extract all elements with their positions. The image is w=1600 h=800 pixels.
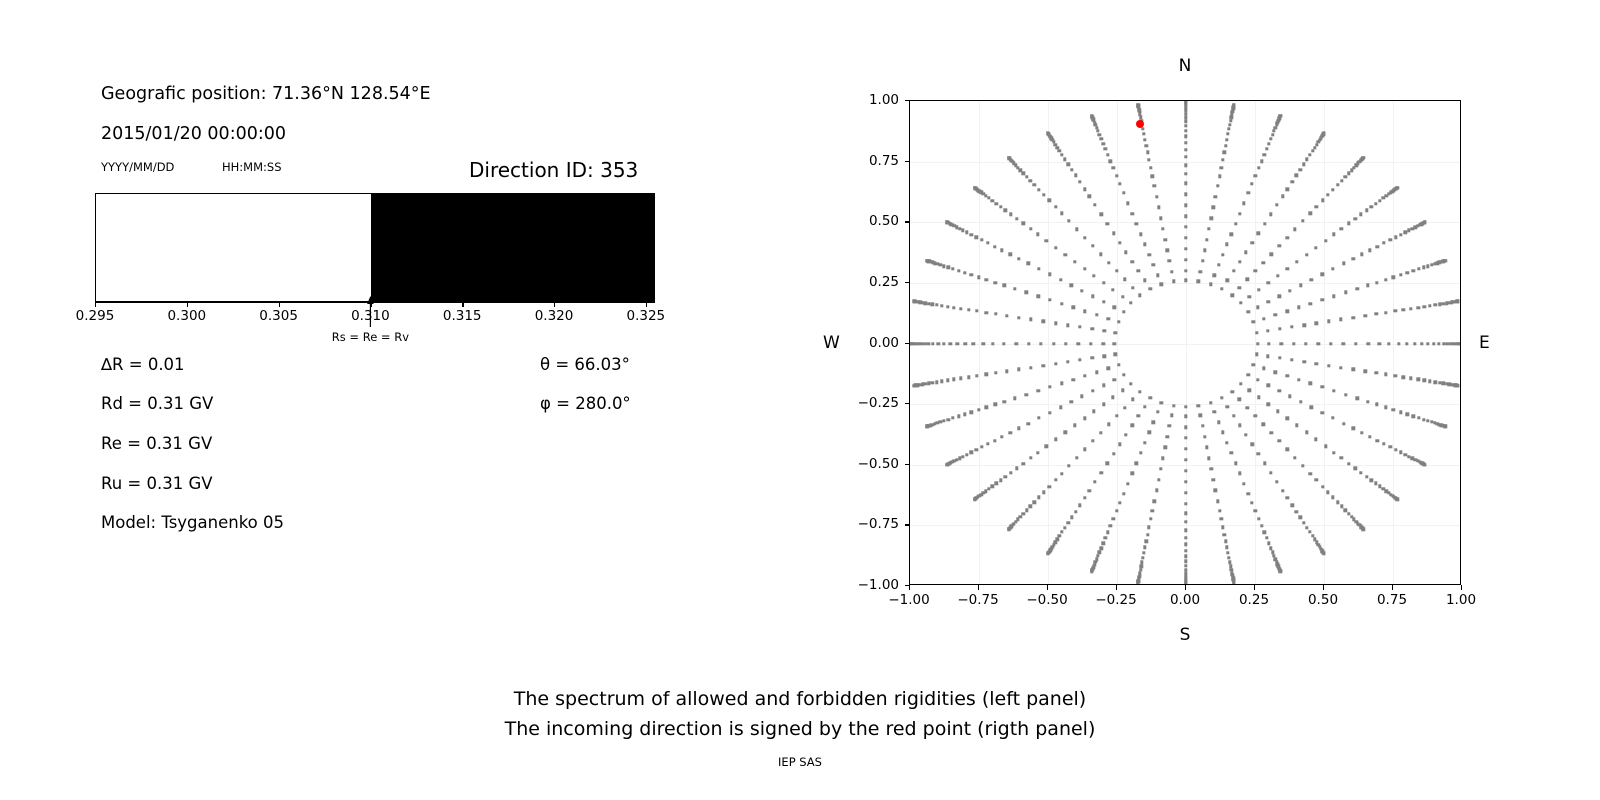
direction-point	[1060, 212, 1063, 215]
direction-point	[1036, 389, 1039, 392]
spectrum-tick	[646, 302, 647, 307]
polar-xtick-label: 0.25	[1239, 592, 1269, 608]
direction-point	[959, 307, 962, 310]
direction-point	[1422, 266, 1425, 269]
direction-point	[1271, 133, 1274, 136]
direction-point	[927, 302, 930, 305]
direction-point	[1375, 403, 1378, 406]
direction-point	[1184, 100, 1187, 103]
direction-point	[1205, 446, 1208, 449]
direction-point	[1113, 305, 1116, 308]
spectrum-tick	[187, 302, 188, 307]
direction-point	[1106, 367, 1109, 370]
direction-point	[1114, 331, 1117, 334]
direction-point	[1029, 505, 1032, 508]
direction-point	[1184, 135, 1187, 138]
polar-xtick	[1047, 585, 1048, 590]
direction-point	[994, 202, 997, 205]
direction-point	[1342, 422, 1345, 425]
direction-point	[1285, 309, 1288, 312]
polar-xtick	[1185, 585, 1186, 590]
polar-ytick	[905, 585, 910, 586]
direction-point	[1059, 278, 1062, 281]
direction-point	[1336, 500, 1339, 503]
direction-point	[1184, 564, 1187, 567]
direction-point	[1114, 353, 1117, 356]
direction-point	[1232, 269, 1235, 272]
direction-point	[1223, 533, 1226, 536]
direction-point	[1351, 368, 1354, 371]
direction-point	[1225, 546, 1228, 549]
direction-point	[1359, 471, 1362, 474]
direction-point	[1220, 396, 1223, 399]
direction-point	[1067, 464, 1070, 467]
direction-point	[1058, 149, 1061, 152]
direction-point	[1099, 213, 1102, 216]
direction-point	[1139, 451, 1142, 454]
direction-point	[1109, 524, 1112, 527]
direction-point	[1394, 235, 1397, 238]
direction-point	[1286, 267, 1289, 270]
direction-point	[1130, 260, 1133, 263]
direction-point	[1384, 406, 1387, 409]
direction-point	[1295, 424, 1298, 427]
direction-point	[1355, 397, 1358, 400]
direction-point	[927, 382, 930, 385]
direction-point	[1342, 262, 1345, 265]
direction-point	[1288, 395, 1291, 398]
direction-point	[1344, 393, 1347, 396]
direction-point	[1286, 187, 1289, 190]
direction-point	[1184, 436, 1187, 439]
direction-point	[1033, 183, 1036, 186]
direction-point	[1080, 395, 1083, 398]
direction-point	[1437, 342, 1440, 345]
direction-point	[1056, 146, 1059, 149]
direction-point	[1102, 542, 1105, 545]
direction-point	[970, 233, 973, 236]
direction-point	[1274, 370, 1277, 373]
direction-point	[1201, 424, 1204, 427]
direction-point	[1123, 406, 1126, 409]
polar-xtick-label: 0.75	[1377, 592, 1407, 608]
direction-point	[1002, 342, 1005, 345]
direction-point	[1100, 546, 1103, 549]
direction-point	[1394, 309, 1397, 312]
polar-ytick-label: 0.50	[841, 213, 899, 229]
direction-point	[1107, 261, 1110, 264]
polar-ytick-label: 0.25	[841, 274, 899, 290]
direction-point	[980, 238, 983, 241]
direction-point	[1321, 411, 1324, 414]
polar-direction-plot: −1.00−0.75−0.50−0.250.000.250.500.751.00…	[909, 100, 1461, 585]
direction-point	[1184, 258, 1187, 261]
direction-point	[1157, 206, 1160, 209]
direction-point	[1279, 570, 1282, 573]
direction-point	[1152, 420, 1155, 423]
direction-point	[1297, 306, 1300, 309]
direction-point	[1368, 435, 1371, 438]
direction-point	[1029, 456, 1032, 459]
direction-point	[1184, 279, 1187, 282]
direction-point	[1138, 390, 1141, 393]
direction-point	[1170, 413, 1173, 416]
direction-point	[1216, 184, 1219, 187]
direction-point	[1115, 269, 1118, 272]
direction-point	[931, 381, 934, 384]
direction-point	[1025, 393, 1028, 396]
direction-point	[1257, 232, 1260, 235]
direction-point	[1184, 155, 1187, 158]
direction-point	[1266, 354, 1269, 357]
direction-point	[1042, 490, 1045, 493]
direction-point	[1143, 138, 1146, 141]
direction-point	[940, 380, 943, 383]
direction-point	[1048, 485, 1051, 488]
direction-point	[1153, 499, 1156, 502]
direction-point	[1223, 151, 1226, 154]
polar-ytick-label: 1.00	[841, 92, 899, 108]
direction-point	[1163, 446, 1166, 449]
direction-point	[1340, 179, 1343, 182]
direction-point	[994, 482, 997, 485]
polar-ytick-label: −0.50	[841, 456, 899, 472]
direction-point	[1126, 482, 1129, 485]
direction-point	[1266, 329, 1269, 332]
polar-ytick-label: −0.25	[841, 395, 899, 411]
direction-point	[1226, 551, 1229, 554]
direction-point	[1232, 581, 1235, 584]
direction-point	[1339, 366, 1342, 369]
direction-point	[1184, 116, 1187, 119]
direction-point	[1184, 129, 1187, 132]
direction-point	[1078, 180, 1081, 183]
direction-point	[1009, 253, 1012, 256]
direction-point	[1027, 262, 1030, 265]
direction-point	[1434, 303, 1437, 306]
parameter-ru: Ru = 0.31 GV	[101, 474, 213, 493]
direction-point	[1106, 153, 1109, 156]
spectrum-tick-label: 0.310	[351, 308, 390, 324]
direction-point	[1066, 360, 1069, 363]
direction-point	[1412, 269, 1415, 272]
direction-point	[1067, 219, 1070, 222]
direction-point	[973, 498, 976, 501]
direction-point	[1184, 491, 1187, 494]
direction-point	[1037, 416, 1040, 419]
polar-ytick	[905, 221, 910, 222]
direction-point	[1184, 204, 1187, 207]
direction-point	[1122, 373, 1125, 376]
direction-point	[1107, 423, 1110, 426]
direction-point	[1111, 288, 1114, 291]
direction-point	[1262, 317, 1265, 320]
direction-point	[1370, 205, 1373, 208]
datetime-label: 2015/01/20 00:00:00	[101, 124, 286, 144]
direction-point	[1344, 291, 1347, 294]
direction-point	[1262, 367, 1265, 370]
direction-point	[1005, 370, 1008, 373]
direction-point	[1078, 504, 1081, 507]
direction-point	[1160, 283, 1163, 286]
direction-point	[1070, 400, 1073, 403]
direction-point	[942, 342, 945, 345]
time-format-hint: HH:MM:SS	[222, 160, 282, 174]
parameter-delta-r: ∆R = 0.01	[101, 355, 185, 374]
direction-point	[1295, 510, 1298, 513]
direction-point	[1060, 153, 1063, 156]
direction-point	[1399, 273, 1402, 276]
direction-point	[1285, 448, 1288, 451]
direction-point	[1364, 314, 1367, 317]
direction-point	[1420, 342, 1423, 345]
direction-point	[963, 271, 966, 274]
direction-point	[1201, 259, 1204, 262]
direction-point	[1387, 342, 1390, 345]
direction-point	[1118, 501, 1121, 504]
direction-point	[1113, 378, 1116, 381]
direction-point	[1230, 293, 1233, 296]
direction-point	[1052, 342, 1055, 345]
direction-point	[1331, 496, 1334, 499]
direction-point	[1059, 405, 1062, 408]
direction-point	[1143, 243, 1146, 246]
direction-point	[1291, 180, 1294, 183]
gridline-vertical	[1393, 101, 1394, 584]
direction-point	[1218, 175, 1221, 178]
direction-point	[1091, 389, 1094, 392]
direction-point	[1184, 529, 1187, 532]
direction-point	[1046, 132, 1049, 135]
direction-point	[1238, 424, 1241, 427]
direction-point	[1290, 358, 1293, 361]
direction-point	[1048, 298, 1051, 301]
direction-point	[1137, 414, 1140, 417]
direction-point	[1309, 382, 1312, 385]
direction-id-label: Direction ID: 353	[469, 158, 638, 182]
direction-point	[970, 410, 973, 413]
direction-point	[1432, 342, 1435, 345]
direction-point	[1399, 410, 1402, 413]
direction-point	[1221, 158, 1224, 161]
direction-point	[912, 384, 915, 387]
direction-point	[1063, 526, 1066, 529]
polar-ytick	[905, 464, 910, 465]
direction-point	[1060, 530, 1063, 533]
direction-point	[999, 205, 1002, 208]
direction-point	[986, 442, 989, 445]
direction-point	[1036, 233, 1039, 236]
direction-point	[1184, 193, 1187, 196]
direction-point	[1263, 222, 1266, 225]
direction-point	[1368, 248, 1371, 251]
direction-point	[1274, 313, 1277, 316]
direction-point	[1275, 480, 1278, 483]
direction-point	[1124, 250, 1127, 253]
direction-point	[1290, 325, 1293, 328]
direction-point	[1007, 528, 1010, 531]
direction-point	[1112, 232, 1115, 235]
gridline-horizontal	[910, 222, 1460, 223]
parameter-rd: Rd = 0.31 GV	[101, 394, 213, 413]
direction-point	[1242, 482, 1245, 485]
direction-point	[1232, 103, 1235, 106]
direction-point	[1250, 501, 1253, 504]
direction-point	[1159, 216, 1162, 219]
direction-point	[1230, 390, 1233, 393]
direction-point	[1122, 310, 1125, 313]
direction-point	[1417, 416, 1420, 419]
direction-point	[1060, 302, 1063, 305]
direction-point	[1143, 546, 1146, 549]
direction-point	[1285, 374, 1288, 377]
spectrum-tick-label: 0.320	[535, 308, 574, 324]
direction-point	[1315, 205, 1318, 208]
direction-point	[1247, 191, 1250, 194]
direction-point	[993, 245, 996, 248]
direction-point	[1212, 206, 1215, 209]
direction-point	[1130, 424, 1133, 427]
direction-point	[1054, 362, 1057, 365]
direction-point	[1302, 162, 1305, 165]
direction-point	[1239, 301, 1242, 304]
direction-point	[1234, 461, 1237, 464]
direction-point	[1305, 526, 1308, 529]
direction-point	[1156, 410, 1159, 413]
direction-point	[1027, 342, 1030, 345]
direction-point	[1184, 172, 1187, 175]
polar-xtick	[1116, 585, 1117, 590]
date-format-hint: YYYY/MM/DD	[101, 160, 174, 174]
direction-point	[1225, 243, 1228, 246]
direction-point	[1256, 305, 1259, 308]
direction-point	[1428, 304, 1431, 307]
direction-point	[1265, 536, 1268, 539]
direction-point	[1375, 312, 1378, 315]
direction-point	[1139, 232, 1142, 235]
direction-point	[1048, 411, 1051, 414]
direction-point	[1221, 431, 1224, 434]
direction-point	[1246, 310, 1249, 313]
direction-point	[1406, 271, 1409, 274]
direction-point	[1221, 253, 1224, 256]
direction-point	[1103, 354, 1106, 357]
direction-point	[1352, 257, 1355, 260]
direction-point	[1313, 146, 1316, 149]
direction-point	[1121, 295, 1124, 298]
direction-point	[1342, 342, 1345, 345]
direction-point	[1344, 175, 1347, 178]
direction-point	[1184, 447, 1187, 450]
direction-point	[1025, 175, 1028, 178]
direction-point	[1248, 389, 1251, 392]
direction-point	[1184, 236, 1187, 239]
direction-point	[1244, 250, 1247, 253]
direction-point	[1426, 342, 1429, 345]
parameter-model: Model: Tsyganenko 05	[101, 513, 284, 532]
direction-point	[985, 373, 988, 376]
direction-point	[957, 269, 960, 272]
direction-point	[1324, 239, 1327, 242]
direction-point	[946, 305, 949, 308]
direction-point	[1225, 138, 1228, 141]
direction-point	[1252, 320, 1255, 323]
direction-point	[956, 342, 959, 345]
direction-point	[980, 445, 983, 448]
direction-point	[1017, 257, 1020, 260]
direction-point	[1015, 217, 1018, 220]
direction-point	[965, 453, 968, 456]
direction-point	[1269, 137, 1272, 140]
direction-point	[1406, 413, 1409, 416]
compass-label-east: E	[1479, 333, 1490, 353]
spectrum-tick	[279, 302, 280, 307]
spectrum-tick-label: 0.325	[626, 308, 665, 324]
direction-point	[1126, 202, 1129, 205]
direction-point	[1412, 415, 1415, 418]
direction-point	[1257, 517, 1260, 520]
direction-point	[1170, 270, 1173, 273]
direction-point	[1304, 342, 1307, 345]
direction-point	[981, 342, 984, 345]
direction-point	[1291, 504, 1294, 507]
direction-point	[1145, 540, 1148, 543]
direction-point	[1226, 405, 1229, 408]
direction-point	[1078, 325, 1081, 328]
direction-point	[1238, 260, 1241, 263]
direction-point	[1331, 188, 1334, 191]
direction-point	[1106, 530, 1109, 533]
direction-point	[1021, 222, 1024, 225]
direction-point	[1000, 248, 1003, 251]
direction-point	[1045, 239, 1048, 242]
direction-point	[936, 342, 939, 345]
direction-point	[1375, 281, 1378, 284]
direction-point	[1048, 273, 1051, 276]
direction-point	[1382, 442, 1385, 445]
direction-point	[990, 485, 993, 488]
direction-point	[1327, 320, 1330, 323]
direction-point	[1301, 464, 1304, 467]
direction-point	[1263, 462, 1266, 465]
direction-point	[1197, 280, 1200, 283]
direction-point	[1184, 520, 1187, 523]
direction-point	[1285, 236, 1288, 239]
direction-point	[923, 342, 926, 345]
direction-point	[1070, 284, 1073, 287]
direction-point	[1153, 184, 1156, 187]
direction-point	[1327, 364, 1330, 367]
direction-point	[1073, 260, 1076, 263]
spectrum-segment-allowed	[96, 194, 371, 301]
direction-point	[1351, 316, 1354, 319]
direction-point	[1045, 445, 1048, 448]
direction-point	[1071, 306, 1074, 309]
direction-point	[1009, 213, 1012, 216]
direction-point	[1261, 261, 1264, 264]
direction-point	[1091, 244, 1094, 247]
direction-point	[1347, 222, 1350, 225]
direction-point	[1360, 253, 1363, 256]
direction-point	[1320, 385, 1323, 388]
direction-point	[1184, 124, 1187, 127]
direction-point	[1360, 431, 1363, 434]
compass-label-north: N	[1179, 56, 1192, 76]
direction-point	[1091, 356, 1094, 359]
spectrum-tick	[554, 302, 555, 307]
direction-point	[1250, 182, 1253, 185]
direction-point	[1238, 212, 1241, 215]
